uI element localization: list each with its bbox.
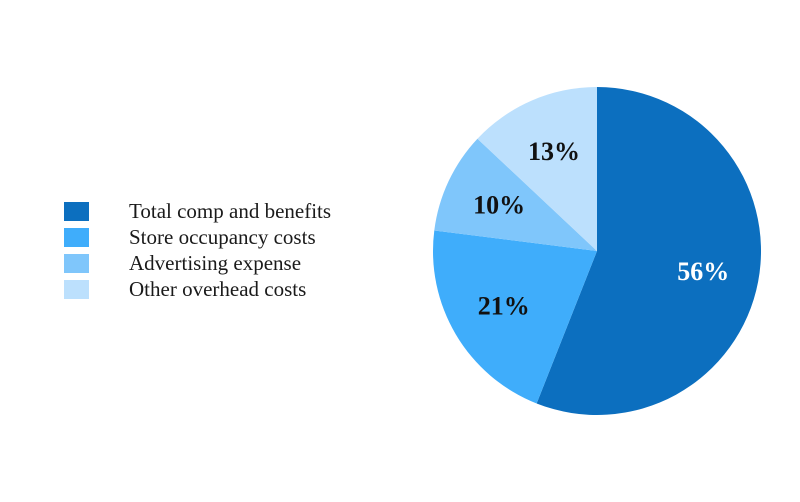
legend-swatch-icon <box>64 202 89 221</box>
legend-item-advertising-expense[interactable]: Advertising expense <box>64 250 394 276</box>
pie-slice-label-store-occupancy-costs: 21% <box>478 292 530 321</box>
pie-slice-group <box>433 87 761 415</box>
legend-swatch-icon <box>64 254 89 273</box>
pie-chart-figure: Total comp and benefits Store occupancy … <box>0 0 800 502</box>
pie-graphic: 56%21%10%13% <box>432 86 762 416</box>
legend-item-label: Store occupancy costs <box>129 227 316 248</box>
legend-swatch-icon <box>64 280 89 299</box>
pie-slice-label-total-comp-and-benefits: 56% <box>677 257 729 286</box>
legend-item-label: Advertising expense <box>129 253 301 274</box>
chart-legend: Total comp and benefits Store occupancy … <box>64 198 394 302</box>
legend-swatch-icon <box>64 228 89 247</box>
legend-item-label: Total comp and benefits <box>129 201 331 222</box>
legend-item-other-overhead-costs[interactable]: Other overhead costs <box>64 276 394 302</box>
legend-item-label: Other overhead costs <box>129 279 306 300</box>
legend-item-store-occupancy-costs[interactable]: Store occupancy costs <box>64 224 394 250</box>
legend-item-total-comp-and-benefits[interactable]: Total comp and benefits <box>64 198 394 224</box>
pie-slice-label-advertising-expense: 10% <box>473 190 525 219</box>
pie-svg: 56%21%10%13% <box>432 86 762 416</box>
pie-slice-label-other-overhead-costs: 13% <box>528 137 580 166</box>
